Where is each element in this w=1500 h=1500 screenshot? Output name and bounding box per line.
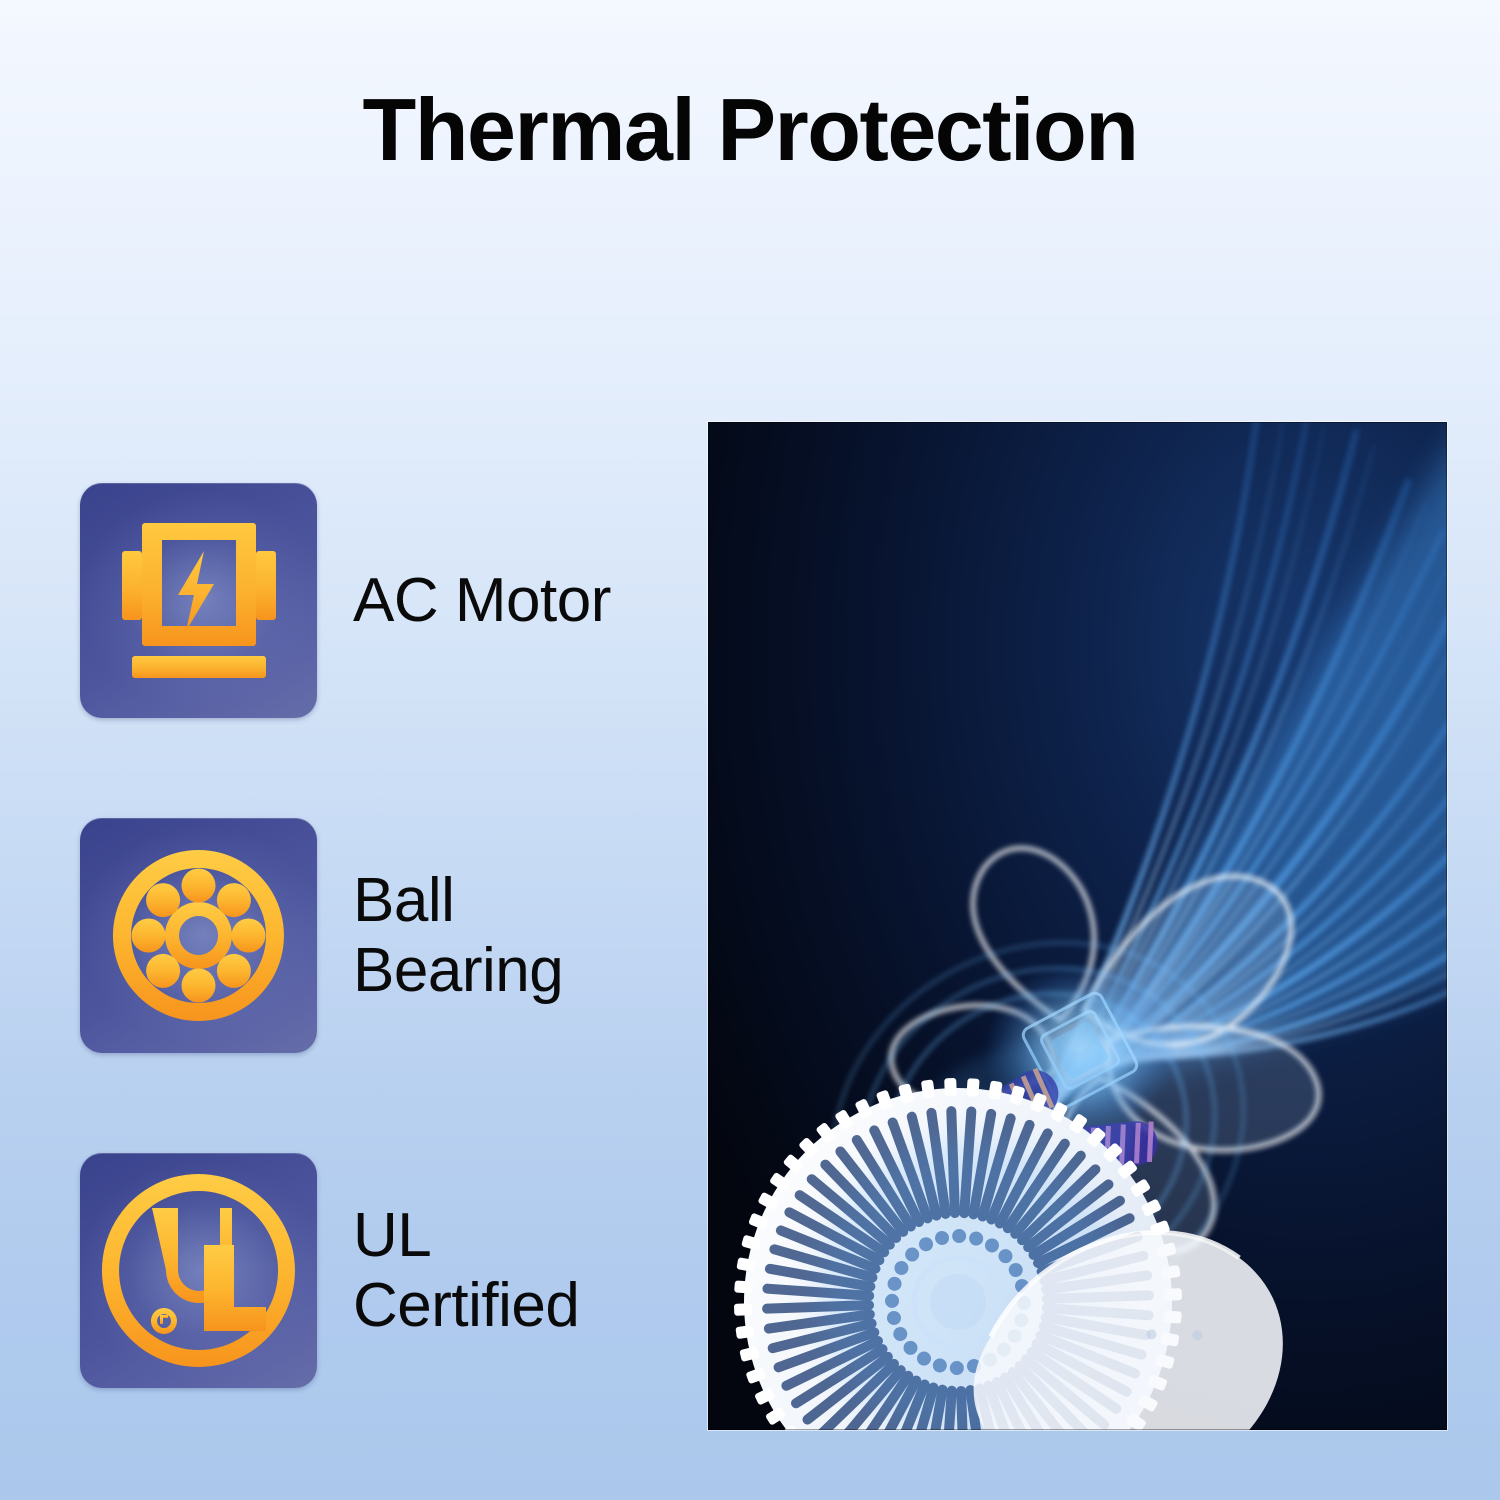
feature-label-line1: AC Motor [353,566,611,635]
feature-label-ball-bearing: Ball Bearing [353,866,563,1005]
feature-item-ul-certified: UL Certified [80,1153,680,1388]
fan-motor-airflow-xray-image [708,422,1447,1430]
product-image-panel [708,422,1447,1430]
ul-certified-icon [80,1153,317,1388]
page-title: Thermal Protection [0,84,1500,176]
ball-bearing-icon-tile [80,818,317,1053]
ball-bearing-icon [80,818,317,1053]
ac-motor-icon [80,483,317,718]
ac-motor-icon-tile [80,483,317,718]
ul-certified-icon-tile [80,1153,317,1388]
feature-label-line1: Ball [353,866,563,935]
feature-label-line2: Bearing [353,936,563,1005]
feature-list: AC Motor [80,483,680,1388]
feature-label-line1: UL [353,1201,579,1270]
feature-label-ac-motor: AC Motor [353,566,611,635]
feature-item-ac-motor: AC Motor [80,483,680,718]
feature-item-ball-bearing: Ball Bearing [80,818,680,1053]
feature-label-line2: Certified [353,1271,579,1340]
feature-label-ul-certified: UL Certified [353,1201,579,1340]
